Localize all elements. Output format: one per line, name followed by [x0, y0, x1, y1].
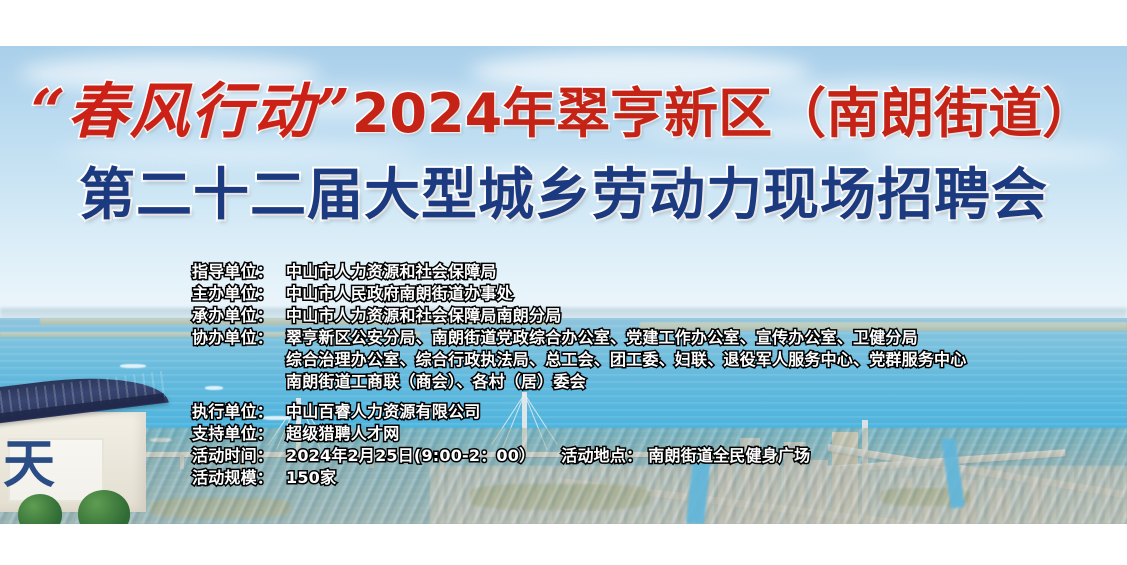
poster-details-block: 指导单位： 中山市人力资源和社会保障局 主办单位： 中山市人民政府南朗街道办事处…	[192, 258, 1092, 486]
detail-extra-label: 活动地点：	[561, 442, 642, 466]
detail-value: 超级猎聘人才网	[286, 420, 399, 444]
detail-value: 南朗街道工商联（商会）、各村（居）委会	[286, 368, 586, 392]
detail-value: 中山市人力资源和社会保障局南朗分局	[286, 302, 561, 326]
detail-row: 活动时间： 2024年2月25日(9:00-2：00） 活动地点： 南朗街道全民…	[192, 442, 1092, 464]
detail-label: 支持单位：	[192, 420, 280, 444]
detail-value: 中山市人力资源和社会保障局	[286, 258, 497, 282]
detail-label: 指导单位：	[192, 258, 280, 282]
detail-label: 主办单位：	[192, 280, 280, 304]
detail-value: 中山市人民政府南朗街道办事处	[286, 280, 513, 304]
detail-label: 协办单位：	[192, 324, 280, 348]
detail-label: 执行单位：	[192, 398, 280, 422]
detail-label: 活动时间：	[192, 442, 280, 466]
detail-value: 150家	[286, 464, 336, 488]
detail-value: 综合治理办公室、综合行政执法局、总工会、团工委、妇联、退役军人服务中心、党群服务…	[286, 346, 966, 370]
detail-extra-value: 南朗街道全民健身广场	[648, 442, 810, 466]
detail-row: 主办单位： 中山市人民政府南朗街道办事处	[192, 280, 1092, 302]
recruitment-poster: 天 “春风行动”2024年翠亨新区（南朗街道） 第二十二届大型城乡劳动力现场招聘…	[0, 0, 1127, 565]
detail-row: 承办单位： 中山市人力资源和社会保障局南朗分局	[192, 302, 1092, 324]
wall-calligraphy-glyph: 天	[0, 436, 74, 494]
detail-value: 翠亨新区公安分局、南朗街道党政综合办公室、党建工作办公室、宣传办公室、卫健分局	[286, 324, 918, 348]
detail-row: 支持单位： 超级猎聘人才网	[192, 420, 1092, 442]
detail-row-continuation: 南朗街道工商联（商会）、各村（居）委会	[192, 368, 1092, 390]
detail-label: 承办单位：	[192, 302, 280, 326]
detail-row-continuation: 综合治理办公室、综合行政执法局、总工会、团工委、妇联、退役军人服务中心、党群服务…	[192, 346, 1092, 368]
detail-row: 协办单位： 翠亨新区公安分局、南朗街道党政综合办公室、党建工作办公室、宣传办公室…	[192, 324, 1092, 346]
title-line-1-rest: 2024年翠亨新区（南朗街道）	[352, 82, 1096, 145]
brush-calligraphy-title: “春风行动”	[31, 77, 352, 147]
detail-value: 中山百睿人力资源有限公司	[286, 398, 480, 422]
detail-row: 执行单位： 中山百睿人力资源有限公司	[192, 398, 1092, 420]
detail-row: 活动规模： 150家	[192, 464, 1092, 486]
detail-label: 活动规模：	[192, 464, 280, 488]
detail-row: 指导单位： 中山市人力资源和社会保障局	[192, 258, 1092, 280]
poster-title-line-2: 第二十二届大型城乡劳动力现场招聘会	[0, 168, 1127, 224]
detail-value: 2024年2月25日(9:00-2：00）	[286, 442, 535, 466]
poster-title-line-1: “春风行动”2024年翠亨新区（南朗街道）	[0, 82, 1127, 142]
